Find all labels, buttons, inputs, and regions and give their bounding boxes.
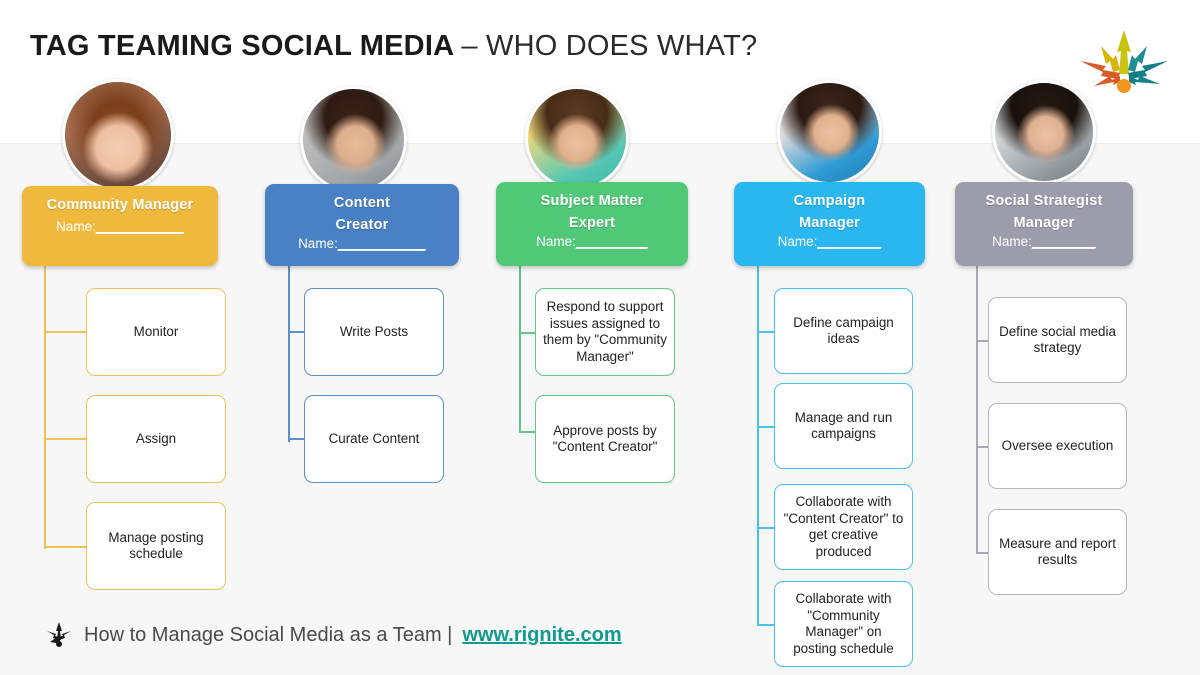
connector-vertical: [519, 266, 521, 432]
page-title: TAG TEAMING SOCIAL MEDIA – WHO DOES WHAT…: [30, 30, 757, 63]
connector-vertical: [976, 266, 978, 553]
connector-vertical: [757, 266, 759, 625]
task-box[interactable]: Define campaign ideas: [774, 288, 913, 374]
task-box[interactable]: Manage posting schedule: [86, 502, 226, 590]
role-title: Community Manager: [22, 194, 218, 216]
role-card-content-creator[interactable]: Content Creator Name:___________: [265, 184, 459, 266]
task-box[interactable]: Oversee execution: [988, 403, 1127, 489]
connector-branch: [519, 332, 535, 334]
slide-canvas: TAG TEAMING SOCIAL MEDIA – WHO DOES WHAT…: [0, 0, 1200, 675]
role-card-subject-matter-expert[interactable]: Subject Matter Expert Name:_________: [496, 182, 688, 266]
avatar-subject-matter-expert: [525, 86, 629, 190]
task-box[interactable]: Curate Content: [304, 395, 444, 483]
task-box[interactable]: Define social media strategy: [988, 297, 1127, 383]
role-name-field[interactable]: Name:_________: [496, 234, 688, 249]
page-title-light: – WHO DOES WHAT?: [461, 30, 757, 62]
connector-branch: [757, 527, 774, 529]
rignite-starburst-icon: [44, 620, 74, 650]
connector-branch: [757, 331, 774, 333]
role-card-campaign-manager[interactable]: Campaign Manager Name:________: [734, 182, 925, 266]
connector-branch: [44, 331, 86, 333]
task-box[interactable]: Assign: [86, 395, 226, 483]
task-box[interactable]: Manage and run campaigns: [774, 383, 913, 469]
avatar-content-creator: [300, 86, 407, 193]
connector-branch: [44, 438, 86, 440]
role-name-field[interactable]: Name:___________: [265, 236, 459, 251]
role-name-field[interactable]: Name:________: [955, 234, 1133, 249]
task-box[interactable]: Collaborate with "Community Manager" on …: [774, 581, 913, 667]
footer-text: How to Manage Social Media as a Team |: [84, 624, 452, 647]
connector-branch: [288, 438, 304, 440]
connector-branch: [288, 331, 304, 333]
connector-branch: [976, 446, 988, 448]
connector-branch: [976, 552, 988, 554]
connector-branch: [519, 431, 535, 433]
page-title-bold: TAG TEAMING SOCIAL MEDIA: [30, 30, 461, 62]
role-title: Social Strategist Manager: [955, 190, 1133, 234]
task-box[interactable]: Collaborate with "Content Creator" to ge…: [774, 484, 913, 570]
footer-link[interactable]: www.rignite.com: [462, 624, 621, 647]
connector-vertical: [288, 266, 290, 442]
role-card-social-strategist-manager[interactable]: Social Strategist Manager Name:________: [955, 182, 1133, 266]
task-box[interactable]: Respond to support issues assigned to th…: [535, 288, 675, 376]
role-title: Content Creator: [265, 192, 459, 236]
task-box[interactable]: Measure and report results: [988, 509, 1127, 595]
avatar-social-strategist-manager: [992, 80, 1096, 184]
task-box[interactable]: Write Posts: [304, 288, 444, 376]
role-name-field[interactable]: Name:________: [734, 234, 925, 249]
role-title: Campaign Manager: [734, 190, 925, 234]
avatar-campaign-manager: [777, 80, 882, 185]
role-name-field[interactable]: Name:___________: [22, 219, 218, 234]
role-title: Subject Matter Expert: [496, 190, 688, 234]
footer: How to Manage Social Media as a Team | w…: [44, 620, 622, 650]
role-card-community-manager[interactable]: Community Manager Name:___________: [22, 186, 218, 266]
connector-vertical: [44, 266, 46, 549]
avatar-community-manager: [62, 79, 174, 191]
connector-branch: [976, 340, 988, 342]
connector-branch: [757, 624, 774, 626]
connector-branch: [757, 426, 774, 428]
task-box[interactable]: Monitor: [86, 288, 226, 376]
connector-branch: [44, 546, 86, 548]
task-box[interactable]: Approve posts by "Content Creator": [535, 395, 675, 483]
